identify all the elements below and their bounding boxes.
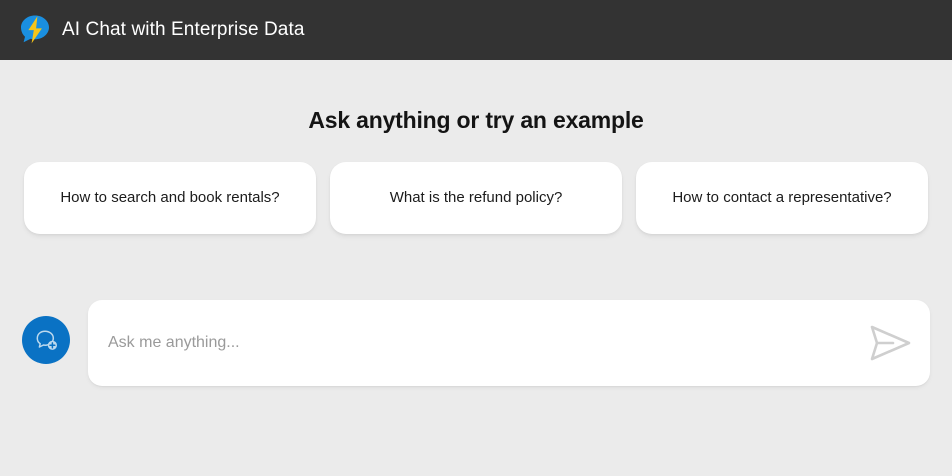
app-title: AI Chat with Enterprise Data bbox=[62, 19, 305, 41]
app-header: AI Chat with Enterprise Data bbox=[0, 0, 952, 60]
send-paper-plane-icon bbox=[866, 322, 914, 364]
example-prompt-label: How to contact a representative? bbox=[672, 189, 891, 207]
example-prompt-label: What is the refund policy? bbox=[390, 189, 563, 207]
example-prompt-card-1[interactable]: How to search and book rentals? bbox=[24, 162, 316, 234]
new-chat-bubble-plus-icon bbox=[32, 326, 60, 354]
chat-input-container[interactable] bbox=[88, 300, 930, 386]
example-prompt-list: How to search and book rentals? What is … bbox=[0, 162, 952, 234]
page-title: Ask anything or try an example bbox=[0, 60, 952, 134]
new-chat-button[interactable] bbox=[22, 316, 70, 364]
example-prompt-card-3[interactable]: How to contact a representative? bbox=[636, 162, 928, 234]
example-prompt-label: How to search and book rentals? bbox=[60, 189, 279, 207]
send-button[interactable] bbox=[864, 320, 916, 366]
lightning-chat-bubble-icon bbox=[18, 13, 52, 47]
main-content: Ask anything or try an example How to se… bbox=[0, 60, 952, 476]
chat-input[interactable] bbox=[88, 300, 930, 386]
chat-composer bbox=[0, 300, 952, 386]
example-prompt-card-2[interactable]: What is the refund policy? bbox=[330, 162, 622, 234]
